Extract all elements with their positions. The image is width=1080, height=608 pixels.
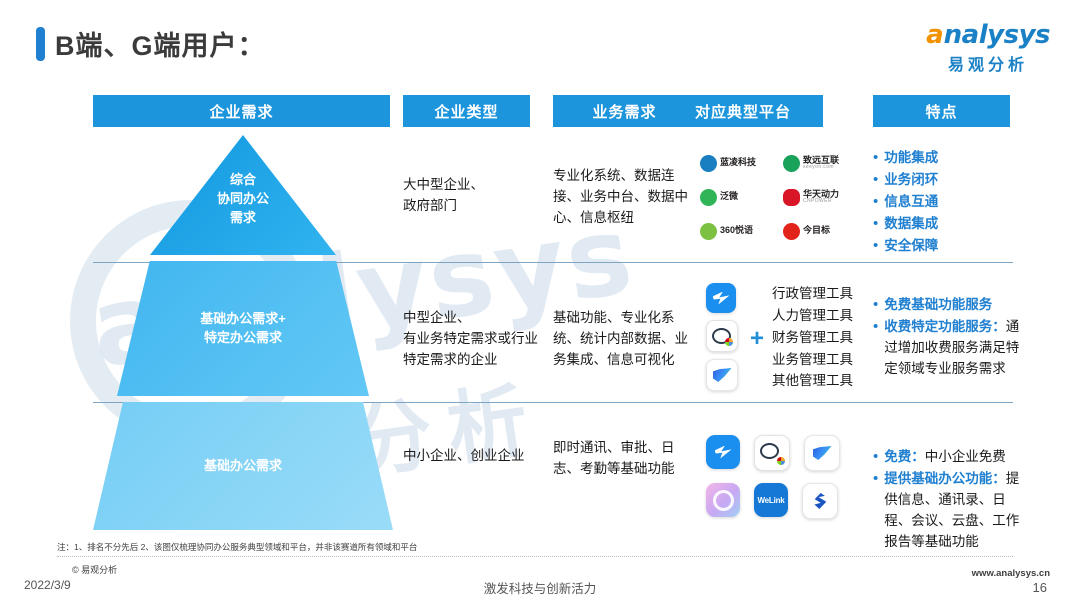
bullet-icon: • <box>873 192 878 212</box>
feature-label: 收费特定功能服务： <box>884 319 1006 334</box>
row2-enterprise-type: 中型企业、有业务特定需求或行业特定需求的企业 <box>403 308 548 371</box>
cnpower-name-sub: CNPOWER <box>803 199 839 204</box>
pyramid-tier-top: 综合协同办公需求 <box>150 135 336 255</box>
logo-letter-a: a <box>926 22 944 48</box>
lanling-mark <box>700 155 717 172</box>
row2-features: •免费基础功能服务 •收费特定功能服务：通过增加收费服务满足特定领域专业服务需求 <box>873 295 1021 381</box>
column-header-enterprise-need: 企业需求 <box>93 95 390 127</box>
feature-item: •免费：中小企业免费 <box>873 447 1023 468</box>
teambition-icon <box>706 483 740 517</box>
feature-item: •安全保障 <box>873 236 1018 257</box>
analysys-logo: a nalysys 易观分析 <box>926 22 1050 75</box>
dingtalk-icon <box>706 435 740 469</box>
tool-item: 人力管理工具 <box>772 305 853 327</box>
row2-app-icons <box>706 283 738 391</box>
360-mark <box>700 223 717 240</box>
row1-features: •功能集成 •业务闭环 •信息互通 •数据集成 •安全保障 <box>873 148 1018 258</box>
welink-icon: WeLink <box>754 483 788 517</box>
feishu-icon <box>706 359 738 391</box>
tool-item: 业务管理工具 <box>772 349 853 371</box>
row3-app-icons: WeLink <box>706 435 856 519</box>
feature-label: 提供基础办公功能： <box>884 471 1006 486</box>
tool-item: 其他管理工具 <box>772 370 853 392</box>
row3-business-need: 即时通讯、审批、日志、考勤等基础功能 <box>553 438 693 480</box>
bullet-icon: • <box>873 236 878 256</box>
weaver-mark <box>700 189 717 206</box>
row1-business-need: 专业化系统、数据连接、业务中台、数据中心、信息枢纽 <box>553 166 693 229</box>
bullet-icon: • <box>873 295 878 315</box>
seeyon-name-sub: seeyon.com <box>803 165 839 170</box>
feishu-icon <box>804 435 840 471</box>
lanling-name: 蓝凌科技 <box>720 158 756 167</box>
feature-item: •提供基础办公功能：提供信息、通讯录、日程、会议、云盘、工作报告等基础功能 <box>873 469 1023 553</box>
platform-logo-360: 360悦语 <box>700 218 777 244</box>
pyramid-chart: 综合协同办公需求 基础办公需求+特定办公需求 基础办公需求 <box>93 135 393 530</box>
bullet-icon: • <box>873 317 878 337</box>
platform-logo-lanling: 蓝凌科技 <box>700 150 777 176</box>
feature-label: 业务闭环 <box>884 170 938 191</box>
row3-features: •免费：中小企业免费 •提供基础办公功能：提供信息、通讯录、日程、会议、云盘、工… <box>873 447 1023 554</box>
tool-item: 行政管理工具 <box>772 283 853 305</box>
feature-item: •功能集成 <box>873 148 1018 169</box>
jinmubiao-mark <box>783 223 800 240</box>
wecom-icon <box>706 320 738 352</box>
column-header-platforms: 对应典型平台 <box>663 95 823 127</box>
feature-item: •信息互通 <box>873 192 1018 213</box>
footer-slogan: 激发科技与创新活力 <box>0 578 1080 597</box>
column-header-features: 特点 <box>873 95 1010 127</box>
footer-url: www.analysys.cn <box>972 568 1050 579</box>
row3-enterprise-type: 中小企业、创业企业 <box>403 446 563 467</box>
bullet-icon: • <box>873 170 878 190</box>
weaver-name: 泛微 <box>720 192 738 201</box>
title-text: B端、G端用户： <box>55 24 266 63</box>
footer-divider <box>57 556 1013 557</box>
title-accent-bar <box>36 27 45 61</box>
feature-label: 信息互通 <box>884 192 938 213</box>
platform-logo-seeyon: 致远互联 seeyon.com <box>783 150 860 176</box>
row1-enterprise-type: 大中型企业、政府部门 <box>403 175 543 217</box>
wecom-icon <box>754 435 790 471</box>
pyramid-tier-bottom: 基础办公需求 <box>93 402 393 530</box>
feature-text: 提供基础办公功能：提供信息、通讯录、日程、会议、云盘、工作报告等基础功能 <box>884 469 1023 553</box>
feature-item: •业务闭环 <box>873 170 1018 191</box>
pyramid-tier-middle: 基础办公需求+特定办公需求 <box>117 261 369 396</box>
feature-text: 免费：中小企业免费 <box>884 447 1006 468</box>
row2-business-need: 基础功能、专业化系统、统计内部数据、业务集成、信息可视化 <box>553 308 693 371</box>
bullet-icon: • <box>873 469 878 489</box>
table-header-row: 企业需求 企业类型 业务需求 对应典型平台 特点 <box>0 95 1080 127</box>
feature-label: 免费基础功能服务 <box>884 295 992 316</box>
logo-brand-text: nalysys <box>944 22 1050 48</box>
jinmubiao-name: 今目标 <box>803 226 830 235</box>
360-name: 360悦语 <box>720 226 753 235</box>
feature-item: •数据集成 <box>873 214 1018 235</box>
row1-platform-logos: 蓝凌科技 致远互联 seeyon.com 泛微 华天动力 CNPOWER 360… <box>700 150 860 244</box>
bullet-icon: • <box>873 214 878 234</box>
cnpower-name: 华天动力 CNPOWER <box>803 190 839 205</box>
feature-item: •免费基础功能服务 <box>873 295 1021 316</box>
page-title: B端、G端用户： <box>36 24 266 63</box>
page-number: 16 <box>1033 580 1047 595</box>
feature-item: •收费特定功能服务：通过增加收费服务满足特定领域专业服务需求 <box>873 317 1021 380</box>
platform-logo-cnpower: 华天动力 CNPOWER <box>783 184 860 210</box>
platform-logo-jinmubiao: 今目标 <box>783 218 860 244</box>
feature-label: 功能集成 <box>884 148 938 169</box>
seeyon-mark <box>783 155 800 172</box>
copyright: © 易观分析 <box>72 563 117 576</box>
tool-item: 财务管理工具 <box>772 327 853 349</box>
cnpower-mark <box>783 189 800 206</box>
column-header-enterprise-type: 企业类型 <box>403 95 530 127</box>
feature-detail: 中小企业免费 <box>925 449 1006 464</box>
feature-label: 安全保障 <box>884 236 938 257</box>
bullet-icon: • <box>873 148 878 168</box>
dingtalk-icon <box>706 283 736 313</box>
seeyon-name: 致远互联 seeyon.com <box>803 156 839 171</box>
feature-text: 收费特定功能服务：通过增加收费服务满足特定领域专业服务需求 <box>884 317 1021 380</box>
feature-label: 数据集成 <box>884 214 938 235</box>
plus-icon: + <box>750 325 764 353</box>
yunzhijia-icon <box>802 483 838 519</box>
bullet-icon: • <box>873 447 878 467</box>
platform-logo-weaver: 泛微 <box>700 184 777 210</box>
footnote: 注：1、排名不分先后 2、该图仅梳理协同办公服务典型领域和平台，并非该赛道所有领… <box>57 541 417 553</box>
logo-brand-cn: 易观分析 <box>926 51 1050 75</box>
feature-label: 免费： <box>884 449 925 464</box>
row2-tool-list: 行政管理工具 人力管理工具 财务管理工具 业务管理工具 其他管理工具 <box>772 283 853 392</box>
